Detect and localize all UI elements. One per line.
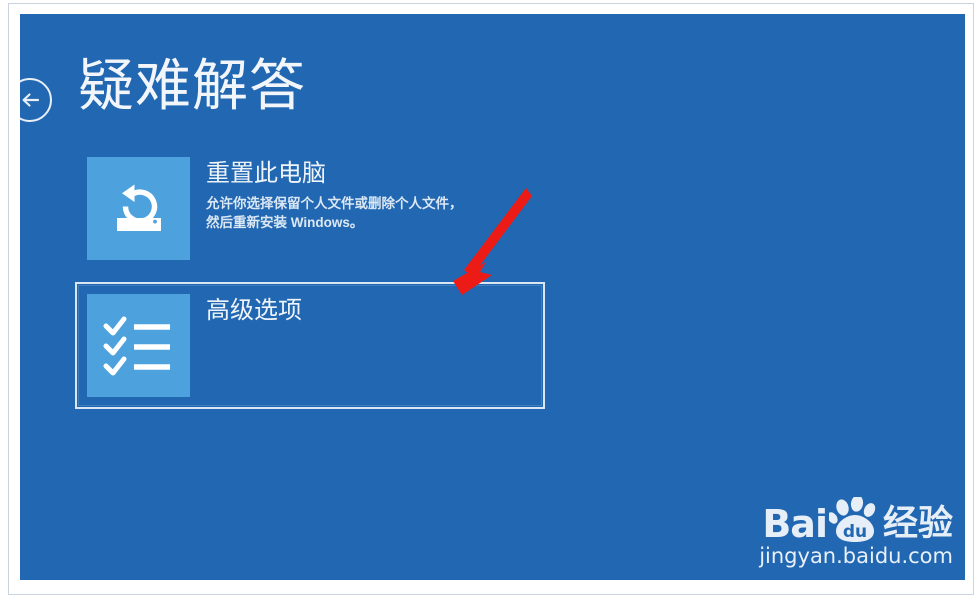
option-advanced-options-title: 高级选项 xyxy=(206,296,302,326)
watermark-brand-mid: du xyxy=(843,522,867,542)
checklist-icon xyxy=(87,294,190,397)
baidu-jingyan-watermark: Bai du 经验 jingyan.baidu.com xyxy=(759,497,953,568)
option-reset-this-pc-title: 重置此电脑 xyxy=(206,159,474,189)
troubleshoot-option-list: 重置此电脑 允许你选择保留个人文件或删除个人文件，然后重新安装 Windows。 xyxy=(75,145,545,419)
option-reset-this-pc-description: 允许你选择保留个人文件或删除个人文件，然后重新安装 Windows。 xyxy=(206,194,474,232)
baidu-paw-icon: du xyxy=(829,497,881,543)
screenshot-root: 疑难解答 xyxy=(0,0,977,600)
reset-pc-icon xyxy=(87,157,190,260)
option-reset-this-pc-text: 重置此电脑 允许你选择保留个人文件或删除个人文件，然后重新安装 Windows。 xyxy=(190,157,474,232)
watermark-brand-latin: Bai xyxy=(762,505,827,543)
header: 疑难解答 xyxy=(20,36,965,114)
page-title: 疑难解答 xyxy=(78,54,306,118)
option-reset-this-pc[interactable]: 重置此电脑 允许你选择保留个人文件或删除个人文件，然后重新安装 Windows。 xyxy=(75,145,545,272)
option-advanced-options[interactable]: 高级选项 xyxy=(75,282,545,409)
recovery-screen-canvas: 疑难解答 xyxy=(20,14,965,580)
watermark-url: jingyan.baidu.com xyxy=(759,544,953,568)
option-advanced-options-text: 高级选项 xyxy=(190,294,302,326)
back-arrow-circle-icon[interactable] xyxy=(20,78,52,122)
watermark-brand-cn: 经验 xyxy=(883,505,953,543)
